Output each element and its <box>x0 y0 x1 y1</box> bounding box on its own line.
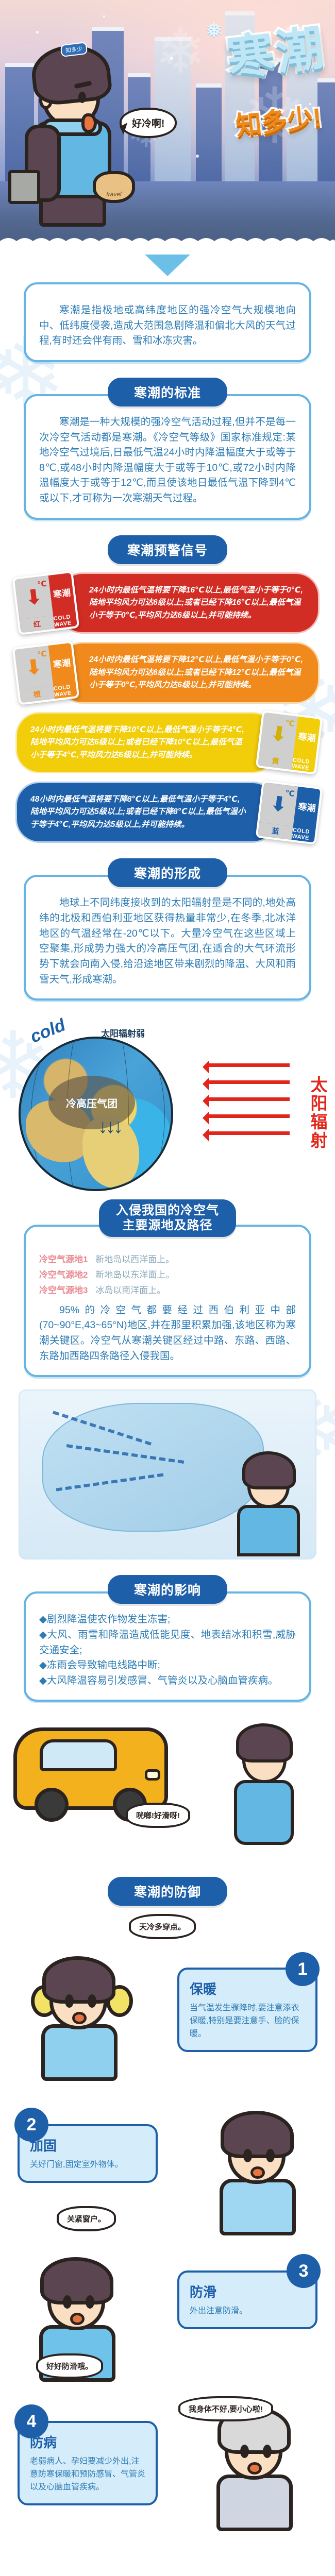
source-key-2: 冷空气源地2 <box>39 1270 88 1280</box>
hero-banner: ❄ ❄ ❄ travel 好冷啊! ❅ 寒潮 <box>0 0 335 247</box>
defense-number-2: 2 <box>14 2108 48 2142</box>
defense-title-4: 防病 <box>30 2432 145 2451</box>
temperature-drop-icon: ⬇ ℃ <box>14 575 53 619</box>
bullet-icon: ◆ <box>39 1629 47 1640</box>
page-title: 寒潮 <box>227 30 326 77</box>
section-title-formation: 寒潮的形成 <box>108 858 227 887</box>
standard-text: 寒潮是一种大规模的强冷空气活动过程,但并不是每一次冷空气活动都是寒潮。《冷空气等… <box>39 415 296 506</box>
warning-sign-yellow: ⬇ ℃ 寒潮 黄 COLD WAVE <box>256 710 323 775</box>
temperature-drop-icon: ⬇ ℃ <box>14 646 53 689</box>
section-title-warnings: 寒潮预警信号 <box>108 535 227 564</box>
warning-row-red: ⬇ ℃ 寒潮 红 COLD WAVE 24小时内最低气温将要下降16℃以上,最低… <box>15 572 320 634</box>
travel-bag-icon: travel <box>93 171 135 203</box>
boy-character: travel <box>21 36 129 227</box>
temperature-drop-icon: ⬇ ℃ <box>259 782 298 826</box>
impact-item-4: ◆大风降温容易引发感冒、气管炎以及心脑血管疾病。 <box>39 1673 296 1689</box>
warning-text-blue: 48小时内最低气温将要下降8℃以上,最低气温小于等于4℃,陆地平均风力可达5级以… <box>15 782 276 843</box>
china-map-illustration <box>19 1389 316 1560</box>
snow-edge-divider <box>0 234 335 247</box>
section-intro: 寒潮是指极地或高纬度地区的强冷空气大规模地向中、低纬度侵袭,造成大范围急剧降温和… <box>0 282 335 362</box>
source-value-3: 冰岛以南洋面上。 <box>95 1285 165 1295</box>
defense-bubble-3: 好好防滑哦。 <box>36 2353 103 2379</box>
impact-card: ◆剧烈降温使农作物发生冻害; ◆大风、雨雪和降温造成低能见度、地表结冰和积雪,威… <box>24 1591 311 1702</box>
source-key-3: 冷空气源地3 <box>39 1285 88 1295</box>
defense-item-4: 防病 老弱病人、孕妇要减少外出,注意防寒保暖和预防感冒、气管炎以及心脑血管疾病。… <box>0 2393 335 2527</box>
sign-label-en: COLD WAVE <box>53 683 77 699</box>
section-title-impact: 寒潮的影响 <box>108 1575 227 1604</box>
impact-text-2: 大风、雨雪和降温造成低能见度、地表结冰和积雪,威胁交通安全; <box>39 1629 296 1656</box>
bullet-icon: ◆ <box>39 1659 47 1671</box>
solar-radiation-label: 太阳辐射 <box>305 1076 330 1150</box>
degree-symbol: ℃ <box>284 718 295 728</box>
defense-title-1: 保暖 <box>190 1979 305 1998</box>
section-impact: 寒潮的影响 ◆剧烈降温使农作物发生冻害; ◆大风、雨雪和降温造成低能见度、地表结… <box>0 1575 335 1861</box>
defense-number-4: 4 <box>14 2404 48 2438</box>
paths-title-line1: 入侵我国的冷空气 <box>116 1204 219 1217</box>
cold-high-pressure-label: 冷高压气团 <box>48 1076 135 1129</box>
sign-label-en: COLD WAVE <box>53 613 77 629</box>
degree-symbol: ℃ <box>284 788 295 799</box>
bullet-icon: ◆ <box>39 1675 47 1686</box>
warm-clothing-figure <box>23 1951 141 2080</box>
suitcase-icon <box>8 170 40 204</box>
section-defense: 寒潮的防御 天冷多穿点。 保暖 当气温发生骤降时,要注意添衣保暖,特别是要注 <box>0 1877 335 2527</box>
paths-card: 冷空气源地1 新地岛以西洋面上。 冷空气源地2 新地岛以东洋面上。 冷空气源地3… <box>24 1225 311 1378</box>
down-arrow-icon: ⬇ <box>24 656 44 679</box>
standard-card: 寒潮是一种大规模的强冷空气活动过程,但并不是每一次冷空气活动都是寒潮。《冷空气等… <box>24 394 311 520</box>
impact-item-3: ◆冻雨会导致输电线路中断; <box>39 1658 296 1673</box>
defense-desc-1: 当气温发生骤降时,要注意添衣保暖,特别是要注意手、脸的保暖。 <box>190 2002 305 2040</box>
defense-desc-3: 外出注意防滑。 <box>190 2305 305 2318</box>
warning-row-blue: ⬇ ℃ 寒潮 蓝 COLD WAVE 48小时内最低气温将要下降8℃以上,最低气… <box>15 782 320 843</box>
hero-speech-bubble: 好冷啊! <box>120 108 177 138</box>
page-title-text: 寒潮 <box>224 24 328 83</box>
degree-symbol: ℃ <box>37 579 47 589</box>
impact-item-2: ◆大风、雨雪和降温造成低能见度、地表结冰和积雪,威胁交通安全; <box>39 1628 296 1658</box>
warning-row-yellow: ⬇ ℃ 寒潮 黄 COLD WAVE 24小时内最低气温将要下降10℃以上,最低… <box>15 712 320 773</box>
source-row-3: 冷空气源地3 冰岛以南洋面上。 <box>39 1283 296 1296</box>
defense-number-1: 1 <box>286 1952 320 1986</box>
map-boy-character <box>229 1448 306 1556</box>
car-window <box>40 1739 117 1771</box>
down-arrow-icon: ⬇ <box>24 586 44 609</box>
scroll-arrow-icon <box>0 247 335 279</box>
defense-bubble-2: 关紧窗户。 <box>57 2206 116 2231</box>
car-wheel <box>35 1788 69 1822</box>
source-key-1: 冷空气源地1 <box>39 1255 88 1264</box>
defense-item-1: 保暖 当气温发生骤降时,要注意添衣保暖,特别是要注意手、脸的保暖。 1 <box>0 1949 335 2088</box>
source-row-2: 冷空气源地2 新地岛以东洋面上。 <box>39 1267 296 1280</box>
defense-item-2: 加固 关好门窗,固定室外物体。 2 关紧窗户。 <box>0 2100 335 2234</box>
temperature-drop-icon: ⬇ ℃ <box>259 713 298 756</box>
paths-text: 95%的冷空气都要经过西伯利亚中部(70~90°E,43~65°N)地区,并在那… <box>39 1303 296 1364</box>
car-speech-bubble: 咣啷!好滑呀! <box>126 1803 190 1828</box>
content-body: ❄ ❄ ❄ ❄ 寒潮是指极地或高纬度地区的强冷空气大规模地向中、低纬度侵袭,造成… <box>0 247 335 2568</box>
source-value-1: 新地岛以西洋面上。 <box>95 1255 174 1264</box>
globe-diagram: cold 太阳辐射弱 冷高压气团 ↓↓↓ 太阳辐射 <box>0 1014 335 1184</box>
section-warnings: 寒潮预警信号 ⬇ ℃ 寒潮 红 COLD WAVE 24小时内最低气温将要下降1… <box>0 535 335 843</box>
formation-text: 地球上不同纬度接收到的太阳辐射量是不同的,地处高纬的北极和西伯利亚地区获得热量非… <box>39 895 296 987</box>
sign-label-en: COLD WAVE <box>292 756 316 772</box>
warning-text-orange: 24小时内最低气温将要下降12℃以上,最低气温小于等于0℃,陆地平均风力可达6级… <box>59 642 320 703</box>
closing-window-figure <box>201 2106 320 2234</box>
section-formation: 寒潮的形成 地球上不同纬度接收到的太阳辐射量是不同的,地处高纬的北极和西伯利亚地… <box>0 858 335 1184</box>
car-headlight <box>145 1769 160 1781</box>
section-standard: 寒潮的标准 寒潮是一种大规模的强冷空气活动过程,但并不是每一次冷空气活动都是寒潮… <box>0 378 335 520</box>
section-paths: 入侵我国的冷空气 主要源地及路径 冷空气源地1 新地岛以西洋面上。 冷空气源地2… <box>0 1199 335 1560</box>
source-value-2: 新地岛以东洋面上。 <box>95 1270 174 1280</box>
warning-sign-orange: ⬇ ℃ 寒潮 橙 COLD WAVE <box>12 640 80 705</box>
defense-desc-4: 老弱病人、孕妇要减少外出,注意防寒保暖和预防感冒、气管炎以及心脑血管疾病。 <box>30 2455 145 2494</box>
snowflake-icon: ❅ <box>205 19 223 42</box>
section-title-standard: 寒潮的标准 <box>108 378 227 406</box>
degree-symbol: ℃ <box>37 649 47 659</box>
defense-desc-2: 关好门窗,固定室外物体。 <box>30 2159 145 2172</box>
footer-spacer <box>0 2532 335 2553</box>
impact-text-3: 冻雨会导致输电线路中断; <box>47 1659 160 1671</box>
defense-item-3: 防滑 外出注意防滑。 3 好好防滑哦。 <box>0 2247 335 2381</box>
sign-label-cn: 寒潮 <box>293 717 321 759</box>
bullet-icon: ◆ <box>39 1614 47 1625</box>
formation-card: 地球上不同纬度接收到的太阳辐射量是不同的,地处高纬的北极和西伯利亚地区获得热量非… <box>24 875 311 1001</box>
source-row-1: 冷空气源地1 新地岛以西洋面上。 <box>39 1252 296 1265</box>
car-accident-illustration: 咣啷!好滑呀! <box>0 1707 335 1861</box>
impact-text-1: 剧烈降温使农作物发生冻害; <box>47 1614 170 1625</box>
slipping-boy-character <box>222 1722 304 1851</box>
warning-row-orange: ⬇ ℃ 寒潮 橙 COLD WAVE 24小时内最低气温将要下降12℃以上,最低… <box>15 642 320 703</box>
warning-text-red: 24小时内最低气温将要下降16℃以上,最低气温小于等于0℃,陆地平均风力可达6级… <box>59 572 320 634</box>
solar-rays-icon <box>207 1050 290 1148</box>
section-title-paths: 入侵我国的冷空气 主要源地及路径 <box>99 1199 236 1237</box>
infographic-page: ❄ ❄ ❄ travel 好冷啊! ❅ 寒潮 <box>0 0 335 2568</box>
intro-text: 寒潮是指极地或高纬度地区的强冷空气大规模地向中、低纬度侵袭,造成大范围急剧降温和… <box>39 303 296 349</box>
paths-title-line2: 主要源地及路径 <box>123 1218 213 1232</box>
impact-text-4: 大风降温容易引发感冒、气管炎以及心脑血管疾病。 <box>47 1675 278 1686</box>
defense-title-3: 防滑 <box>190 2282 305 2301</box>
warning-text-yellow: 24小时内最低气温将要下降10℃以上,最低气温小于等于4℃,陆地平均风力可达6级… <box>15 712 276 773</box>
intro-card: 寒潮是指极地或高纬度地区的强冷空气大规模地向中、低纬度侵袭,造成大范围急剧降温和… <box>24 282 311 362</box>
defense-top-bubble: 天冷多穿点。 <box>129 1914 196 1939</box>
warning-sign-red: ⬇ ℃ 寒潮 红 COLD WAVE <box>12 571 80 636</box>
section-title-defense: 寒潮的防御 <box>108 1877 227 1906</box>
defense-bubble-4: 我身体不好,要小心啦! <box>178 2396 273 2421</box>
defense-number-3: 3 <box>287 2254 321 2288</box>
warning-sign-blue: ⬇ ℃ 寒潮 蓝 COLD WAVE <box>256 780 323 845</box>
sign-label-en: COLD WAVE <box>292 826 316 842</box>
defense-title-2: 加固 <box>30 2136 145 2155</box>
cold-flow-arrows-icon: ↓↓↓ <box>98 1116 121 1138</box>
car-icon <box>13 1727 168 1810</box>
earth-globe: 冷高压气团 ↓↓↓ <box>19 1037 173 1191</box>
impact-item-1: ◆剧烈降温使农作物发生冻害; <box>39 1612 296 1628</box>
